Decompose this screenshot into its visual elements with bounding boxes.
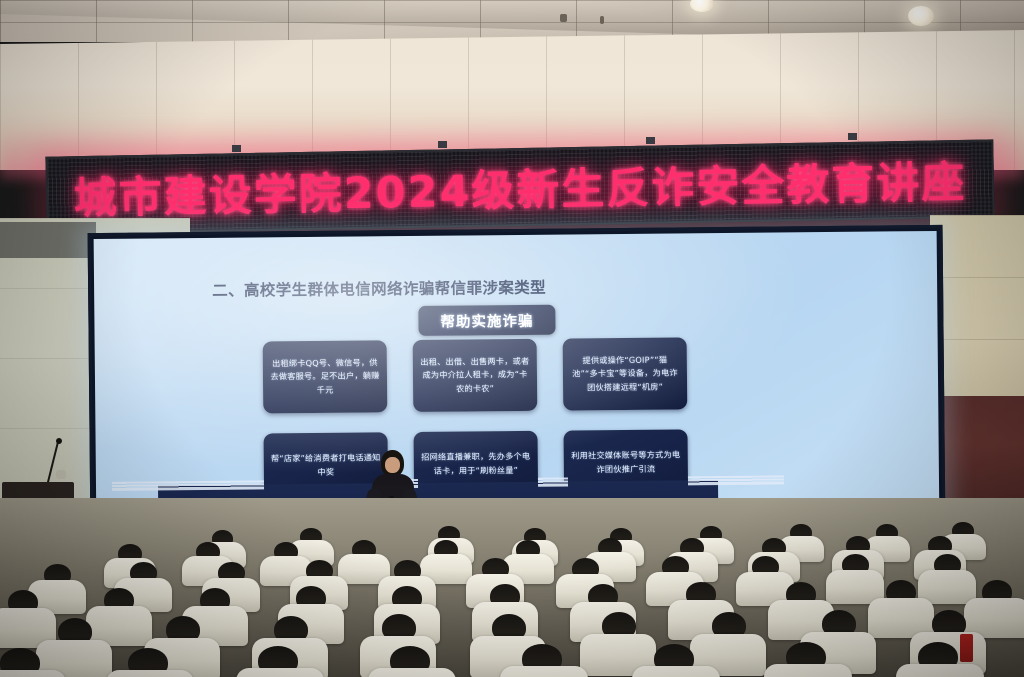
audience-seat — [368, 668, 456, 677]
lecture-hall-photo: 城市建设学院2024级新生反诈安全教育讲座 二、高校学生群体电信网络诈骗帮信罪涉… — [0, 0, 1024, 677]
audience-seat — [106, 670, 194, 677]
slide-card: 出租、出借、出售两卡，或者成为中介拉人租卡，成为“卡农的卡农” — [413, 339, 538, 412]
slide-deco-line — [688, 475, 784, 485]
audience-seat — [500, 666, 588, 677]
audience-seat — [236, 668, 324, 677]
led-mount-bracket — [848, 133, 857, 140]
ceiling-fitting-icon — [560, 14, 567, 22]
led-mount-bracket — [232, 145, 241, 152]
projection-screen: 二、高校学生群体电信网络诈骗帮信罪涉案类型 帮助实施诈骗 出租绑卡QQ号、微信号… — [88, 225, 946, 533]
slide-card-text: 提供或操作“GOIP”“猫池”“多卡宝”等设备，为电诈团伙搭建远程“机房” — [570, 353, 680, 395]
audience-seat — [896, 664, 984, 677]
audience-seat — [632, 666, 720, 677]
podium-lamp-icon — [56, 470, 66, 479]
slide-card: 提供或操作“GOIP”“猫池”“多卡宝”等设备，为电诈团伙搭建远程“机房” — [563, 337, 688, 410]
slide-card-text: 出租绑卡QQ号、微信号，供去做客服号。足不出户，躺赚千元 — [270, 356, 380, 398]
slide-deco-line — [538, 478, 568, 487]
led-mount-bracket — [646, 137, 655, 144]
audience-seat — [764, 664, 852, 677]
audience-seat — [0, 670, 66, 677]
slide-card-text: 利用社交媒体账号等方式为电诈团伙推广引流 — [571, 449, 681, 477]
slide-card-text: 招网络直播兼职，先办多个电话卡，用于“刷粉丝量” — [421, 450, 531, 478]
red-object-on-seat — [960, 634, 973, 662]
microphone-head-icon — [56, 438, 62, 444]
audience-seating — [0, 498, 1024, 677]
slide-card: 出租绑卡QQ号、微信号，供去做客服号。足不出户，躺赚千元 — [263, 340, 388, 413]
speaker-face — [385, 457, 400, 473]
ceiling-fitting-icon — [600, 16, 604, 24]
ceiling-downlight — [908, 6, 934, 26]
left-wall-dark-strip — [0, 222, 96, 258]
slide-card-text: 出租、出借、出售两卡，或者成为中介拉人租卡，成为“卡农的卡农” — [420, 355, 530, 397]
slide-deco-line — [112, 480, 264, 490]
slide-surface: 二、高校学生群体电信网络诈骗帮信罪涉案类型 帮助实施诈骗 出租绑卡QQ号、微信号… — [94, 231, 940, 527]
led-mount-bracket — [438, 141, 447, 148]
